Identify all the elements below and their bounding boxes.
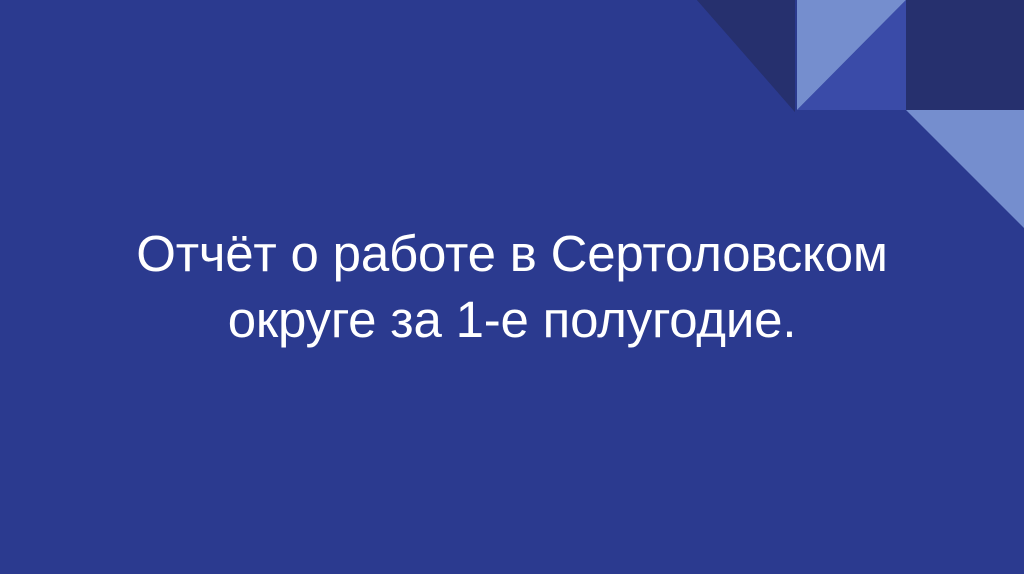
title-block: Отчёт о работе в Сертоловском округе за …: [0, 0, 1024, 574]
presentation-slide: Отчёт о работе в Сертоловском округе за …: [0, 0, 1024, 574]
slide-title: Отчёт о работе в Сертоловском округе за …: [56, 221, 968, 354]
